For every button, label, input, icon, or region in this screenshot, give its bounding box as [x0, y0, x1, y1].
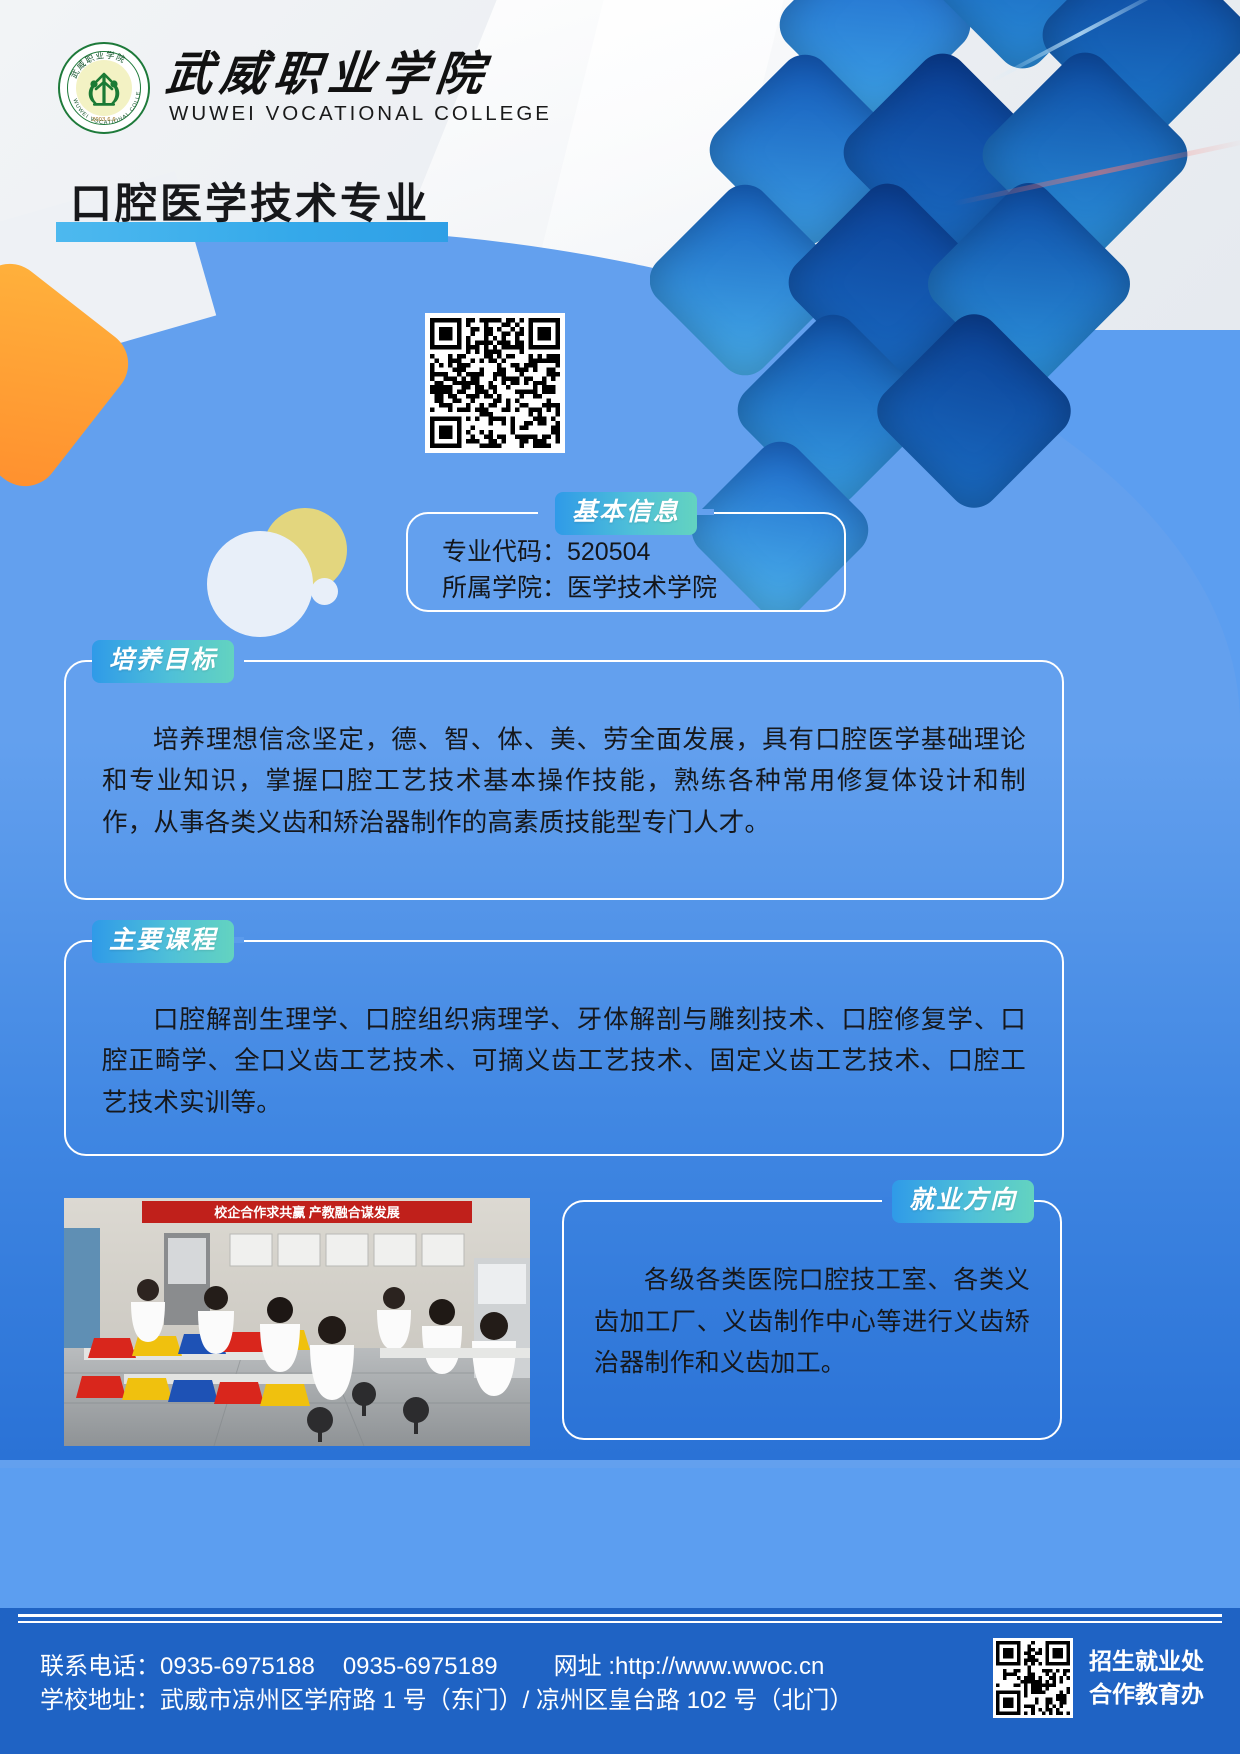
org-line-2: 合作教育办	[1089, 1678, 1204, 1711]
svg-text:校企合作求共赢 产教融合谋发展: 校企合作求共赢 产教融合谋发展	[214, 1205, 401, 1220]
section-basic-info: 基本信息 专业代码：520504 所属学院：医学技术学院	[406, 512, 846, 612]
section-badge-main-courses: 主要课程	[92, 920, 234, 963]
footer-contact-block: 联系电话： 0935-6975188 0935-6975189 网址 : htt…	[40, 1650, 853, 1718]
section-badge-basic-info: 基本信息	[555, 492, 697, 535]
footer: 联系电话： 0935-6975188 0935-6975189 网址 : htt…	[0, 1608, 1240, 1754]
employment-body: 各级各类医院口腔技工室、各类义齿加工厂、义齿制作中心等进行义齿矫治器制作和义齿加…	[594, 1260, 1030, 1385]
phone-number-2: 0935-6975189	[343, 1650, 498, 1684]
seal-year: 2003.6.6	[60, 117, 148, 123]
college-name-cn: 武威职业学院	[163, 50, 554, 99]
qr-code[interactable]	[425, 313, 565, 453]
training-goal-body: 培养理想信念坚定，德、智、体、美、劳全面发展，具有口腔医学基础理论和专业知识，掌…	[102, 720, 1026, 844]
poster-root: 武威职业学院 WUWEI VOCATIONAL COLLEGE	[0, 0, 1240, 1754]
section-badge-training-goal: 培养目标	[92, 640, 234, 683]
section-employment: 就业方向 各级各类医院口腔技工室、各类义齿加工厂、义齿制作中心等进行义齿矫治器制…	[562, 1200, 1062, 1440]
footer-rule-2	[18, 1621, 1222, 1623]
basic-info-line-department: 所属学院：医学技术学院	[442, 570, 844, 606]
footer-qr-code[interactable]	[993, 1638, 1073, 1718]
footer-org-text: 招生就业处 合作教育办	[1089, 1645, 1204, 1712]
section-box-main-courses: 口腔解剖生理学、口腔组织病理学、牙体解剖与雕刻技术、口腔修复学、口腔正畸学、全口…	[64, 940, 1064, 1156]
section-box-training-goal: 培养理想信念坚定，德、智、体、美、劳全面发展，具有口腔医学基础理论和专业知识，掌…	[64, 660, 1064, 900]
tree-seal-logo-icon: 武威职业学院 WUWEI VOCATIONAL COLLEGE	[58, 42, 150, 134]
website-label: 网址 :	[554, 1650, 615, 1684]
section-main-courses: 主要课程 口腔解剖生理学、口腔组织病理学、牙体解剖与雕刻技术、口腔修复学、口腔正…	[64, 940, 1064, 1156]
decor-circle-white-large	[207, 531, 313, 637]
section-badge-employment: 就业方向	[892, 1180, 1034, 1223]
main-courses-body: 口腔解剖生理学、口腔组织病理学、牙体解剖与雕刻技术、口腔修复学、口腔正畸学、全口…	[102, 1000, 1026, 1124]
address-label: 学校地址：	[40, 1684, 160, 1718]
org-line-1: 招生就业处	[1089, 1645, 1204, 1678]
decor-circle-white-small	[311, 578, 338, 605]
footer-org-block: 招生就业处 合作教育办	[993, 1638, 1204, 1718]
section-box-employment: 各级各类医院口腔技工室、各类义齿加工厂、义齿制作中心等进行义齿矫治器制作和义齿加…	[562, 1200, 1062, 1440]
college-logo: 武威职业学院 WUWEI VOCATIONAL COLLEGE	[58, 42, 552, 134]
page-title: 口腔医学技术专业	[70, 180, 430, 228]
section-training-goal: 培养目标 培养理想信念坚定，德、智、体、美、劳全面发展，具有口腔医学基础理论和专…	[64, 660, 1064, 900]
phone-label: 联系电话：	[40, 1650, 160, 1684]
website-url[interactable]: http://www.wwoc.cn	[615, 1650, 824, 1684]
footer-address-row: 学校地址： 武威市凉州区学府路 1 号（东门）/ 凉州区皇台路 102 号（北门…	[40, 1684, 853, 1718]
phone-number-1: 0935-6975188	[160, 1650, 315, 1684]
basic-info-line-code: 专业代码：520504	[442, 534, 844, 570]
address-value: 武威市凉州区学府路 1 号（东门）/ 凉州区皇台路 102 号（北门）	[160, 1684, 853, 1718]
footer-rule-1	[18, 1614, 1222, 1617]
college-name-en: WUWEI VOCATIONAL COLLEGE	[166, 102, 552, 126]
training-room-photo: 校企合作求共赢 产教融合谋发展	[64, 1198, 530, 1446]
page-title-text: 口腔医学技术专业	[70, 180, 430, 228]
footer-phone-row: 联系电话： 0935-6975188 0935-6975189 网址 : htt…	[40, 1650, 853, 1684]
